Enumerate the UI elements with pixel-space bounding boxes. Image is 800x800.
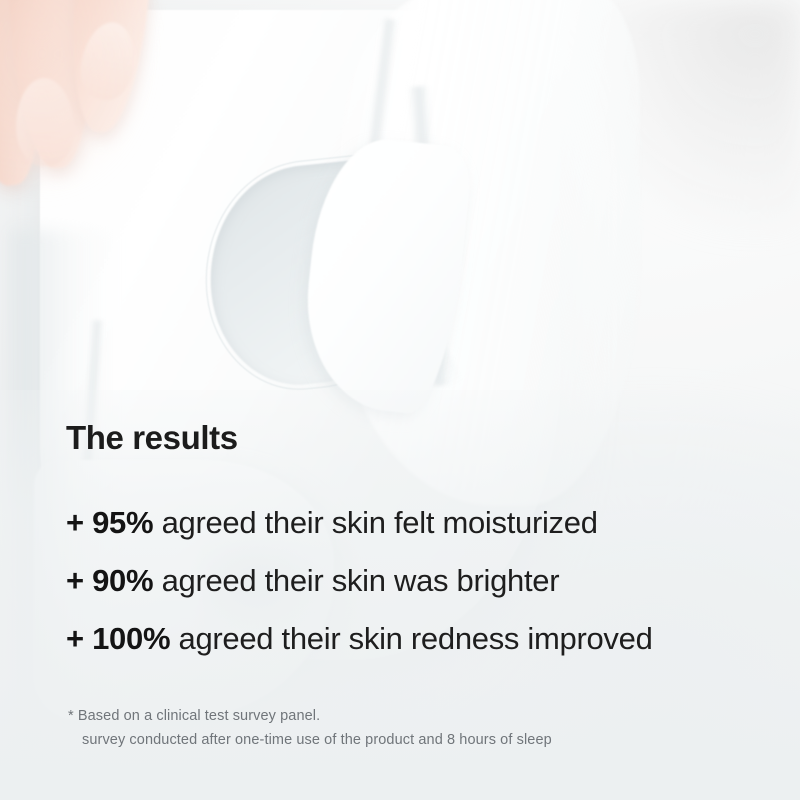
result-stat: + 100% — [66, 621, 170, 656]
result-item: + 100% agreed their skin redness improve… — [66, 610, 653, 668]
result-text: agreed their skin was brighter — [153, 563, 559, 598]
result-stat: + 90% — [66, 563, 153, 598]
footnote: * Based on a clinical test survey panel.… — [68, 704, 552, 752]
result-item: + 90% agreed their skin was brighter — [66, 552, 653, 610]
footnote-line-2: survey conducted after one-time use of t… — [68, 728, 552, 752]
result-text: agreed their skin redness improved — [170, 621, 652, 656]
marketing-image: The results + 95% agreed their skin felt… — [0, 0, 800, 800]
text-overlay: The results + 95% agreed their skin felt… — [0, 0, 800, 800]
result-item: + 95% agreed their skin felt moisturized — [66, 494, 653, 552]
footnote-line-1: * Based on a clinical test survey panel. — [68, 704, 552, 728]
result-stat: + 95% — [66, 505, 153, 540]
results-heading: The results — [66, 419, 238, 457]
result-text: agreed their skin felt moisturized — [153, 505, 597, 540]
results-list: + 95% agreed their skin felt moisturized… — [66, 494, 653, 668]
